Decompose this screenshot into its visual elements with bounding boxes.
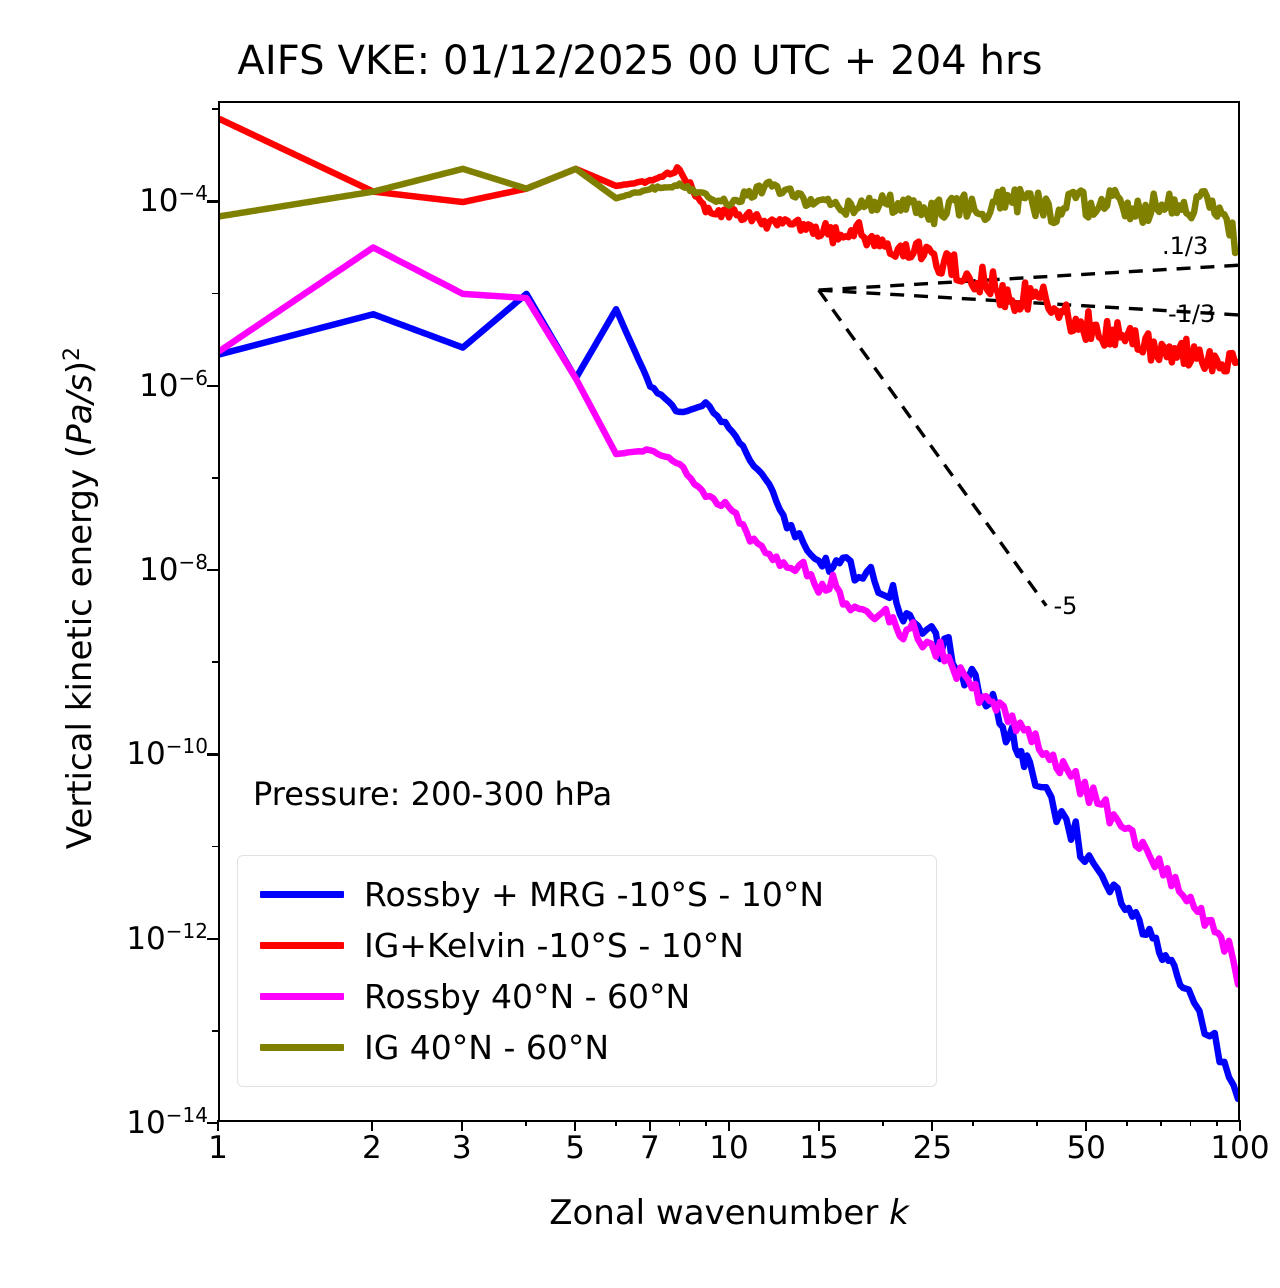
x-tick-label: 10 [709, 1130, 748, 1166]
figure: AIFS VKE: 01/12/2025 00 UTC + 204 hrs Ve… [0, 0, 1280, 1288]
y-tick-label: 10−10 [126, 734, 208, 772]
y-tick-minor [212, 661, 218, 663]
y-tick-mark [207, 200, 218, 202]
x-tick-mark [931, 1120, 933, 1131]
x-tick-minor [1036, 1120, 1038, 1126]
y-tick-mark [207, 938, 218, 940]
x-tick-label: 2 [362, 1130, 382, 1166]
x-axis-label: Zonal wavenumber k [218, 1193, 1240, 1233]
x-tick-label: 100 [1210, 1130, 1269, 1166]
x-tick-mark [574, 1120, 576, 1131]
y-tick-label: 10−4 [139, 181, 208, 219]
x-tick-label: 15 [799, 1130, 838, 1166]
legend-item-label: IG+Kelvin -10°S - 10°N [364, 926, 744, 965]
x-axis-label-symbol: k [889, 1193, 909, 1233]
y-axis-label-exponent: 2 [60, 347, 85, 361]
x-tick-mark [818, 1120, 820, 1131]
legend-color-swatch [260, 942, 344, 949]
x-tick-minor [615, 1120, 617, 1126]
legend-color-swatch [260, 1044, 344, 1051]
y-tick-label: 10−6 [139, 366, 208, 404]
x-tick-mark [649, 1120, 651, 1131]
x-tick-minor [972, 1120, 974, 1126]
slope-label-lower: -5 [1053, 592, 1077, 620]
y-tick-minor [212, 293, 218, 295]
y-tick-mark [207, 569, 218, 571]
x-tick-minor [525, 1120, 527, 1126]
x-tick-label: 5 [565, 1130, 585, 1166]
y-tick-minor [212, 1030, 218, 1032]
legend-item[interactable]: Rossby 40°N - 60°N [238, 971, 936, 1022]
legend-item-label: Rossby 40°N - 60°N [364, 977, 690, 1016]
x-tick-minor [1216, 1120, 1218, 1126]
y-tick-mark [207, 385, 218, 387]
x-tick-label: 50 [1066, 1130, 1105, 1166]
y-axis-label: Vertical kinetic energy (Pa/s)2 [60, 218, 100, 978]
y-axis-label-close: ) [60, 361, 100, 374]
x-tick-mark [461, 1120, 463, 1131]
y-tick-label: 10−8 [139, 550, 208, 588]
pressure-annotation: Pressure: 200-300 hPa [253, 775, 612, 813]
legend-item-label: Rossby + MRG -10°S - 10°N [364, 875, 824, 914]
legend-item-label: IG 40°N - 60°N [364, 1028, 609, 1067]
x-tick-label: 3 [452, 1130, 472, 1166]
x-tick-mark [1085, 1120, 1087, 1131]
legend: Rossby + MRG -10°S - 10°NIG+Kelvin -10°S… [237, 855, 937, 1087]
y-tick-minor [212, 846, 218, 848]
x-tick-label: 1 [208, 1130, 228, 1166]
x-tick-minor [1126, 1120, 1128, 1126]
legend-item[interactable]: Rossby + MRG -10°S - 10°N [238, 869, 936, 920]
x-tick-minor [882, 1120, 884, 1126]
reference-line--5 [819, 290, 1047, 606]
x-tick-minor [705, 1120, 707, 1126]
x-axis-label-text: Zonal wavenumber [549, 1193, 889, 1233]
y-tick-minor [212, 108, 218, 110]
legend-item[interactable]: IG 40°N - 60°N [238, 1022, 936, 1073]
legend-color-swatch [260, 993, 344, 1000]
x-tick-mark [371, 1120, 373, 1131]
x-tick-label: 7 [640, 1130, 660, 1166]
y-tick-label: 10−14 [126, 1103, 208, 1141]
x-tick-minor [679, 1120, 681, 1126]
y-axis-label-text: Vertical kinetic energy ( [60, 445, 100, 850]
legend-color-swatch [260, 891, 344, 898]
x-tick-mark [728, 1120, 730, 1131]
y-axis-label-unit: Pa/s [60, 374, 100, 445]
x-tick-minor [1160, 1120, 1162, 1126]
x-tick-label: 25 [913, 1130, 952, 1166]
y-tick-label: 10−12 [126, 919, 208, 957]
x-tick-mark [217, 1120, 219, 1131]
legend-item[interactable]: IG+Kelvin -10°S - 10°N [238, 920, 936, 971]
y-tick-mark [207, 753, 218, 755]
x-tick-mark [1239, 1120, 1241, 1131]
chart-title: AIFS VKE: 01/12/2025 00 UTC + 204 hrs [0, 38, 1280, 84]
y-tick-minor [212, 477, 218, 479]
slope-label-upper: .1/3 [1162, 232, 1208, 260]
x-tick-minor [1190, 1120, 1192, 1126]
slope-label-middle: -1/3 [1168, 300, 1215, 328]
